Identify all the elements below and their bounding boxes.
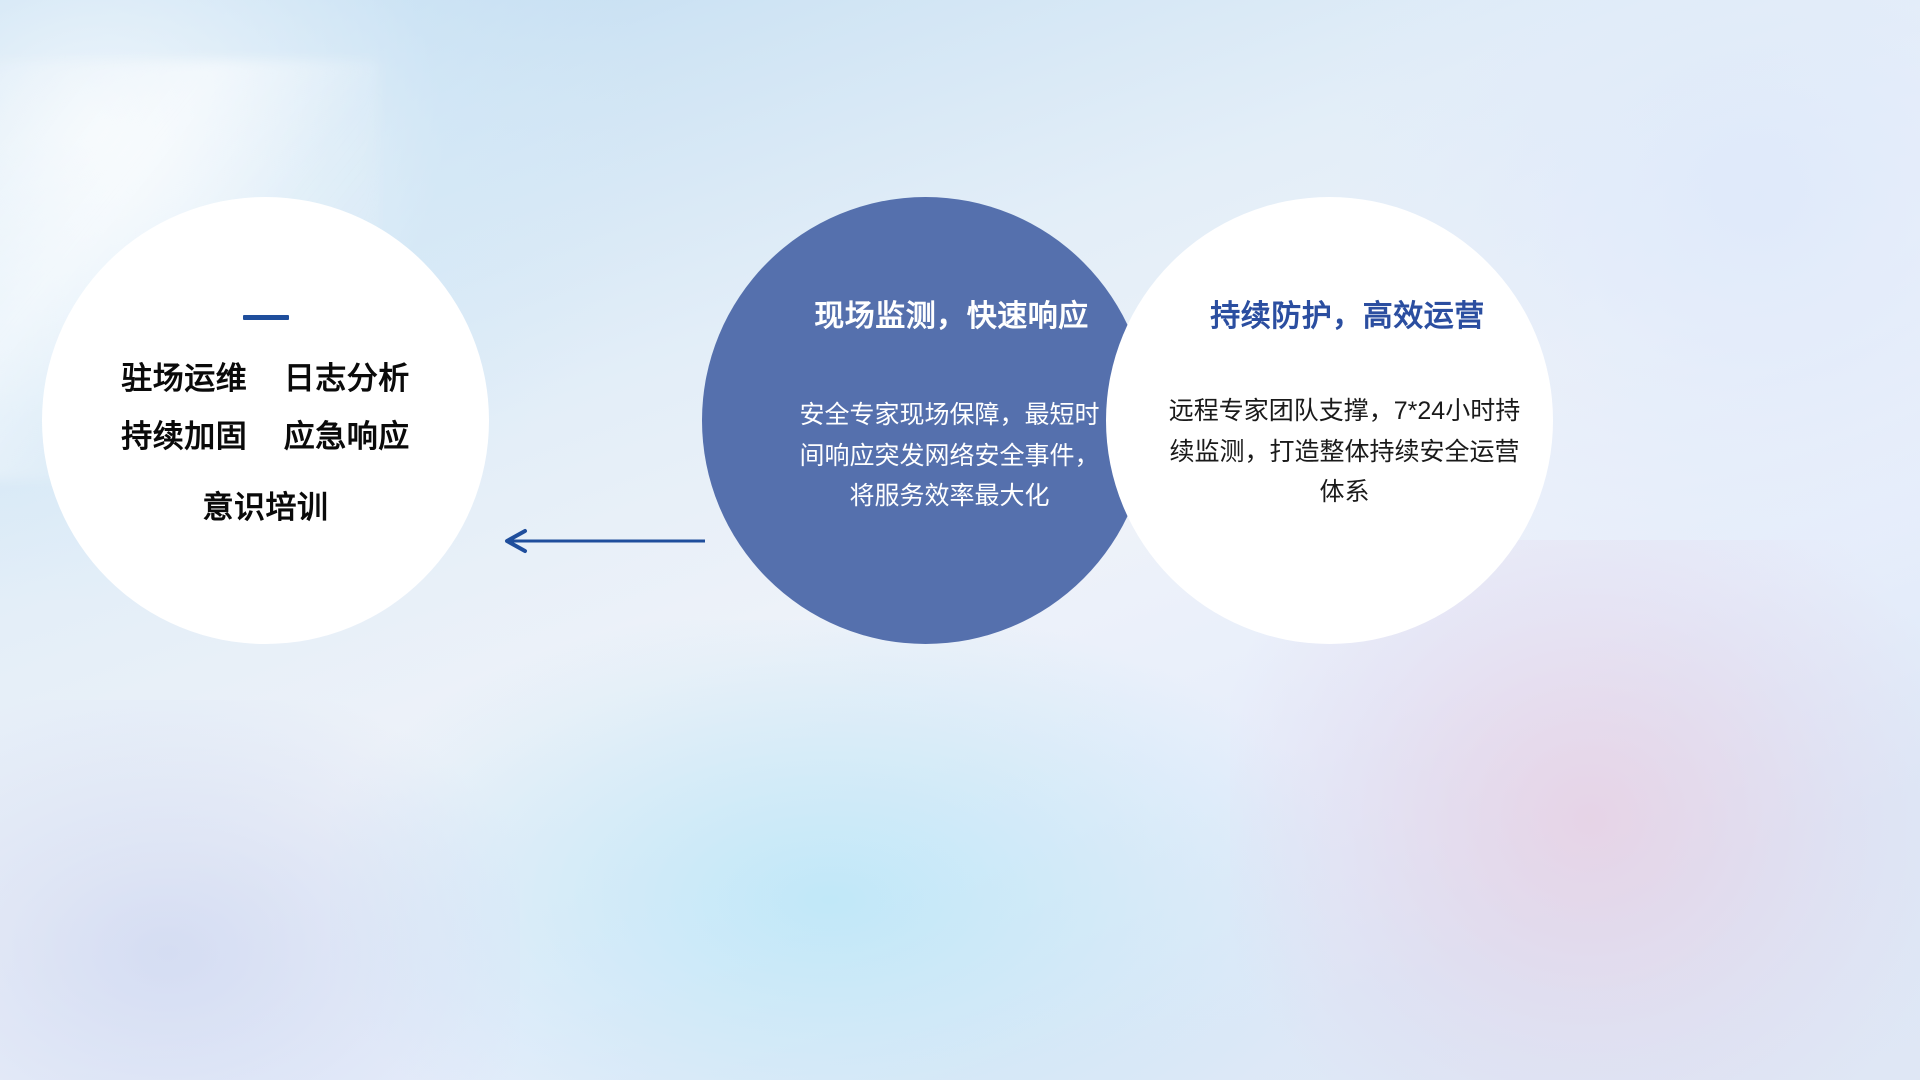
left-circle-content: 驻场运维 日志分析 持续加固 应急响应 意识培训: [42, 197, 489, 644]
right-circle-content: 持续防护，高效运营 远程专家团队支撑，7*24小时持续监测，打造整体持续安全运营…: [1106, 197, 1553, 644]
middle-circle-content: 现场监测，快速响应 安全专家现场保障，最短时间响应突发网络安全事件，将服务效率最…: [702, 197, 1149, 644]
middle-circle-heading: 现场监测，快速响应: [814, 299, 1089, 335]
middle-circle-body: 安全专家现场保障，最短时间响应突发网络安全事件，将服务效率最大化: [800, 395, 1100, 517]
left-keyword-line-2: 持续加固 应急响应: [121, 421, 409, 452]
left-keyword-line-3: 意识培训: [203, 492, 329, 523]
arrow-left-icon: [497, 528, 707, 554]
right-circle-body: 远程专家团队支撑，7*24小时持续监测，打造整体持续安全运营体系: [1165, 391, 1525, 513]
divider-dash: [243, 315, 289, 320]
left-keyword-line-1: 驻场运维 日志分析: [121, 363, 409, 394]
background-glow-bottom-left: [0, 700, 520, 1080]
slide-canvas: 驻场运维 日志分析 持续加固 应急响应 意识培训 现场监测，快速响应 安全专家现…: [0, 0, 1920, 1080]
right-circle-heading: 持续防护，高效运营: [1210, 299, 1485, 335]
flow-arrow: [497, 528, 707, 554]
